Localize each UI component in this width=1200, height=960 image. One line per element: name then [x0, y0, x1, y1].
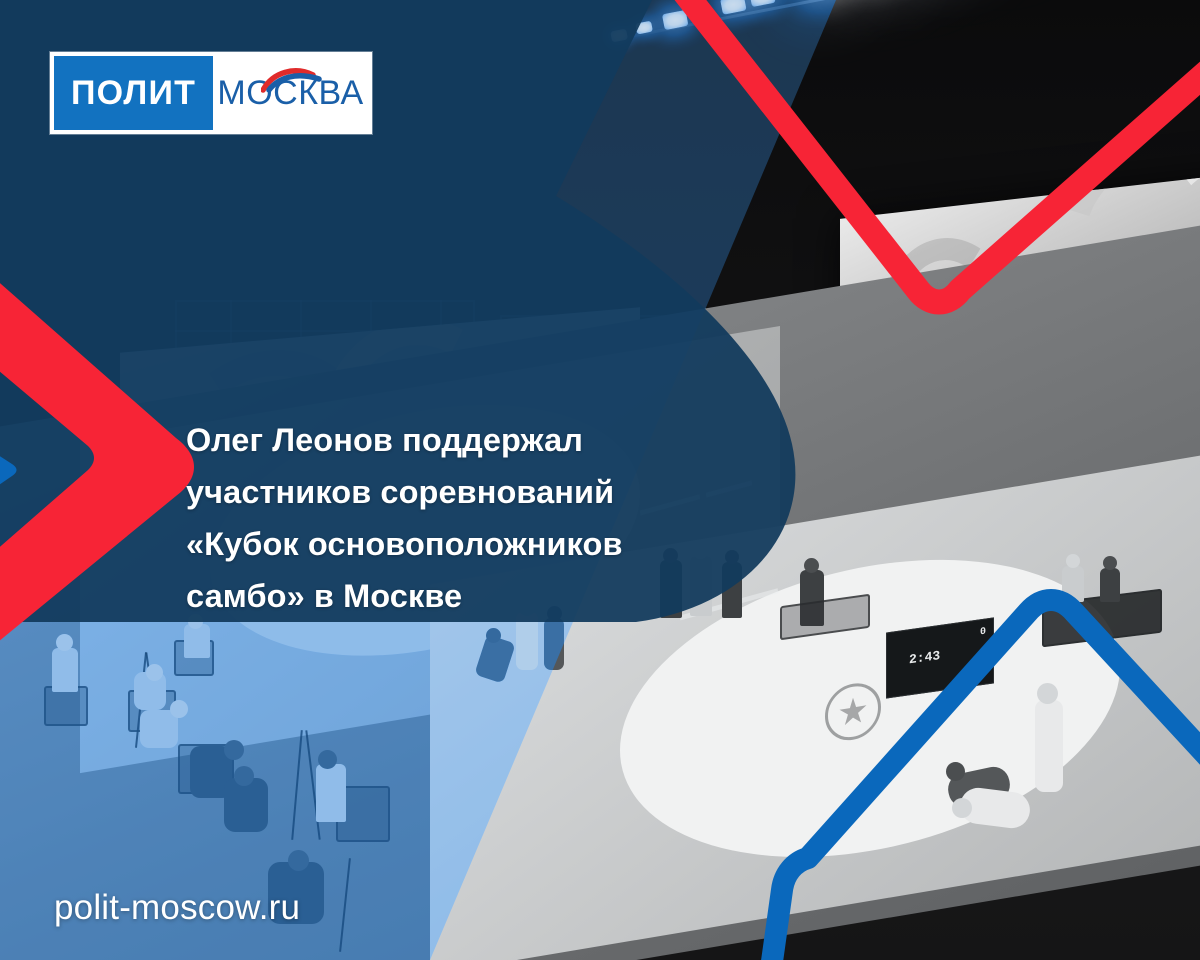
- red-v-swoosh-decoration: [596, 0, 1200, 380]
- social-media-news-card: КУБОК ОСНОВОПОЛОЖНИКОВ САМБО ГАЗПРОМБАНК…: [0, 0, 1200, 960]
- headline-line-3: «Кубок основоположников: [186, 518, 766, 570]
- headline-line-1: Олег Леонов поддержал: [186, 414, 766, 466]
- logo-white-block: МОСКВА: [213, 56, 368, 130]
- logo-blue-block: ПОЛИТ: [54, 56, 213, 130]
- russian-flag-swoosh-icon: [261, 68, 323, 94]
- logo-word-polit: ПОЛИТ: [71, 76, 196, 110]
- page-title: Олег Леонов поддержал участников соревно…: [186, 414, 766, 622]
- headline-line-2: участников соревнований: [186, 466, 766, 518]
- headline-line-4: самбо» в Москве: [186, 570, 766, 622]
- site-logo[interactable]: ПОЛИТ МОСКВА: [50, 52, 372, 134]
- blue-caret-swoosh-decoration: [760, 560, 1200, 960]
- site-url-label[interactable]: polit-moscow.ru: [54, 888, 300, 928]
